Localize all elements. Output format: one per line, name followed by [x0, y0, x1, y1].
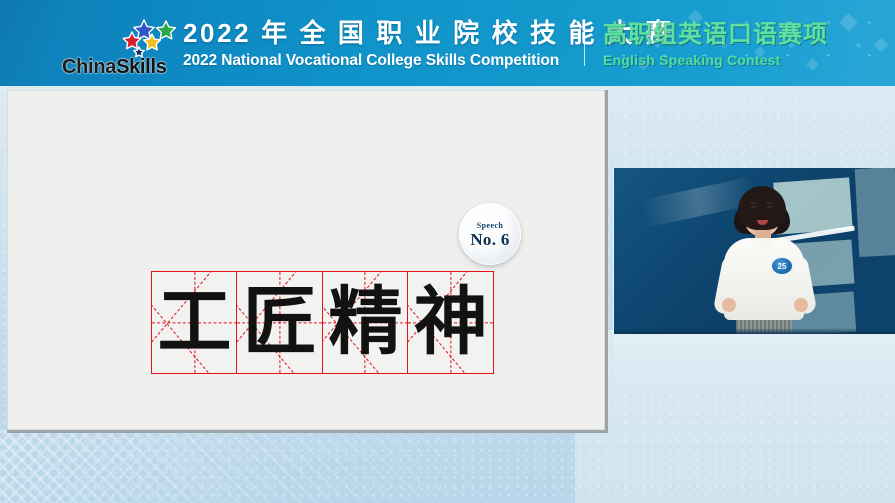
eye-right: [767, 206, 772, 208]
speaker-video-feed: 25: [614, 168, 895, 334]
banner-subtitle-chinese: 高职组英语口语赛项: [603, 20, 853, 49]
event-banner: ChinaSkills 2022 年 全 国 职 业 院 校 技 能 大 赛 2…: [0, 0, 895, 86]
logo-star-cluster-icon: [114, 18, 186, 58]
wall-panel: [855, 168, 895, 257]
speech-badge-label: Speech: [477, 221, 503, 230]
video-lower-background: [614, 334, 895, 394]
eyebrow-right: [766, 202, 773, 204]
video-floor-shadow: [614, 328, 895, 334]
logo-stars-group: [114, 18, 186, 58]
banner-subtitle-block: 高职组英语口语赛项 English Speaking Contest: [603, 20, 853, 69]
logo-wordmark-skills: Skills: [116, 56, 166, 78]
chinaskills-logo: ChinaSkills: [62, 16, 190, 82]
banner-divider: [584, 22, 585, 66]
banner-title-english: 2022 National Vocational College Skills …: [183, 51, 575, 71]
logo-star-green: [157, 21, 176, 39]
eye-left: [751, 206, 756, 208]
speech-number-badge: Speech No. 6: [459, 203, 521, 265]
logo-wordmark: ChinaSkills: [62, 56, 190, 79]
character-cell: 工: [151, 271, 238, 374]
presentation-slide: Speech No. 6 工 匠: [7, 90, 605, 430]
contestant-figure: 25: [710, 186, 820, 334]
character-cell: 神: [407, 271, 494, 374]
banner-title-chinese: 2022 年 全 国 职 业 院 校 技 能 大 赛: [183, 18, 575, 48]
banner-subtitle-english: English Speaking Contest: [603, 51, 853, 69]
eyebrow-left: [750, 202, 757, 204]
chinese-character: 精: [323, 272, 408, 373]
chinese-character: 工: [152, 272, 237, 373]
character-cell: 精: [322, 271, 409, 374]
chinese-character: 匠: [237, 272, 322, 373]
contestant-number-badge: 25: [772, 258, 792, 274]
logo-wordmark-china: China: [62, 56, 116, 78]
hand-right: [794, 298, 808, 312]
speech-badge-number: No. 6: [470, 231, 509, 248]
banner-title-block: 2022 年 全 国 职 业 院 校 技 能 大 赛 2022 National…: [183, 18, 575, 71]
screen-root: ChinaSkills 2022 年 全 国 职 业 院 校 技 能 大 赛 2…: [0, 0, 895, 503]
character-grid: 工 匠 精 神: [151, 271, 494, 374]
chinese-character: 神: [408, 272, 493, 373]
hand-left: [722, 298, 736, 312]
character-cell: 匠: [236, 271, 323, 374]
